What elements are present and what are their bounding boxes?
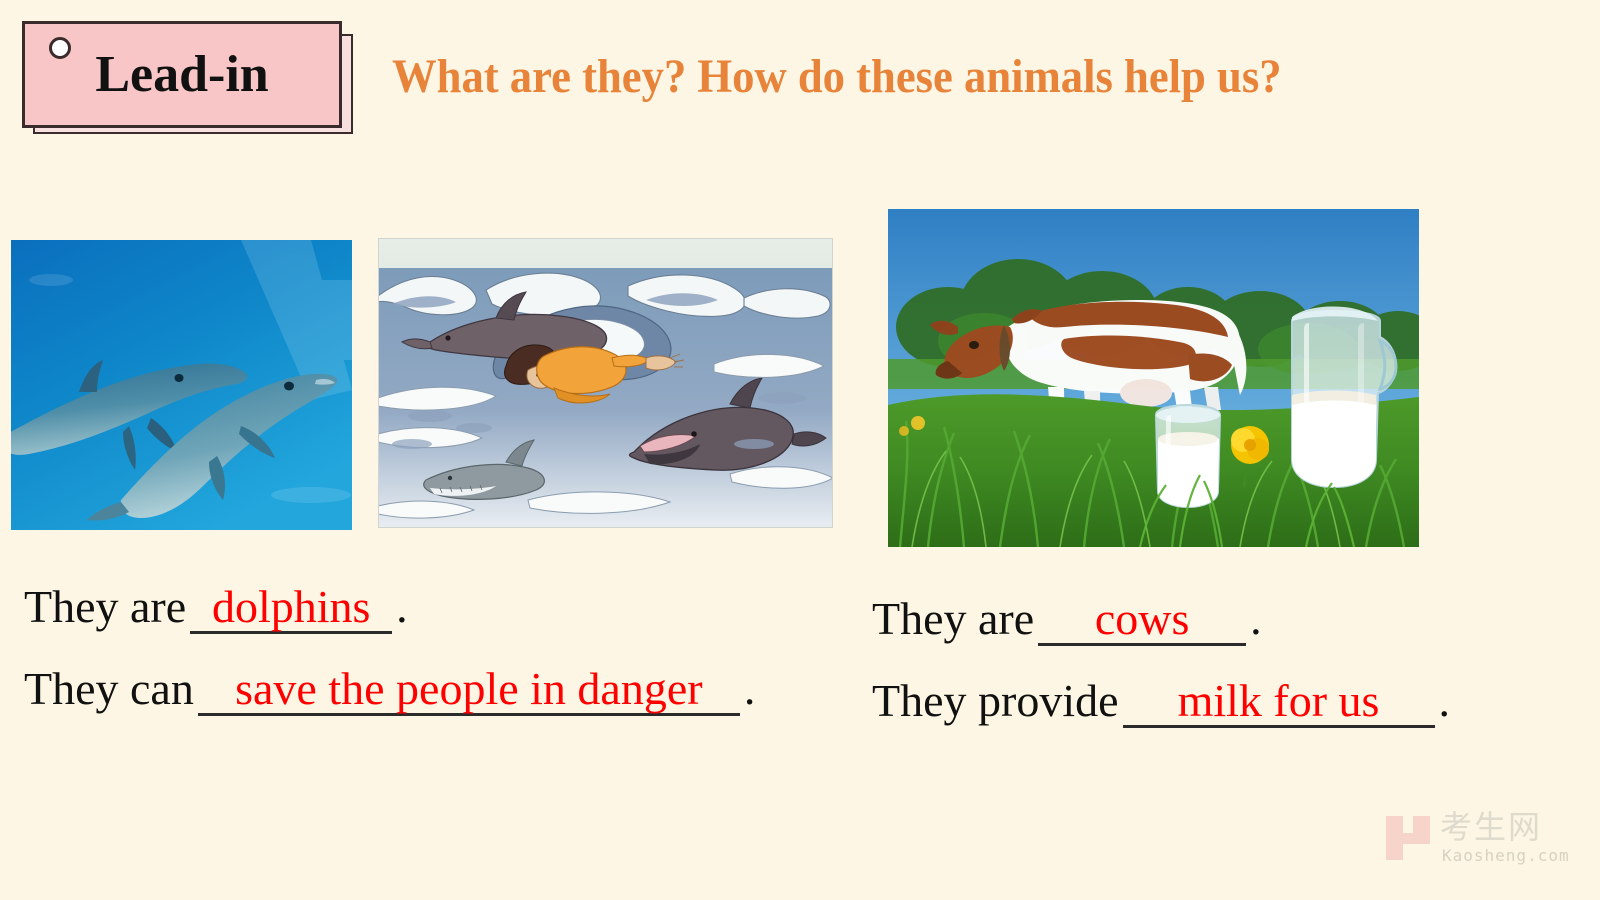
- sentence-left-1: They aredolphins.: [24, 580, 408, 634]
- site-watermark: 考生网 Kaosheng.com: [1386, 812, 1586, 874]
- blank-dolphins[interactable]: dolphins: [190, 584, 392, 634]
- sentence-left-1-period: .: [396, 581, 408, 632]
- sentence-right-1: They arecows.: [872, 592, 1262, 646]
- slide-canvas: Lead-in What are they? How do these anim…: [0, 0, 1600, 900]
- sentence-right-1-lead: They are: [872, 593, 1034, 644]
- sentence-right-2-period: .: [1439, 675, 1451, 726]
- lead-in-badge: Lead-in: [11, 16, 355, 136]
- sentence-right-2: They providemilk for us.: [872, 674, 1450, 728]
- badge-label: Lead-in: [25, 49, 339, 101]
- sentence-left-2-period: .: [744, 663, 756, 714]
- blank-save-the-people-in-danger[interactable]: save the people in danger: [198, 666, 740, 716]
- kaosheng-logo-icon: [1386, 816, 1430, 860]
- watermark-latin-text: Kaosheng.com: [1442, 846, 1570, 865]
- sentence-left-2: They cansave the people in danger.: [24, 662, 755, 716]
- sentence-left-1-lead: They are: [24, 581, 186, 632]
- cow-and-milk-photo: [888, 209, 1419, 547]
- dolphins-underwater-photo: [11, 240, 352, 530]
- dolphins-rescue-illustration: [378, 238, 833, 528]
- sentence-left-2-lead: They can: [24, 663, 194, 714]
- sentence-right-1-period: .: [1250, 593, 1262, 644]
- watermark-chinese-text: 考生网: [1440, 810, 1542, 845]
- blank-milk-for-us[interactable]: milk for us: [1123, 678, 1435, 728]
- page-title: What are they? How do these animals help…: [392, 52, 1282, 102]
- blank-cows[interactable]: cows: [1038, 596, 1246, 646]
- badge-front-card: Lead-in: [22, 21, 342, 128]
- sentence-right-2-lead: They provide: [872, 675, 1119, 726]
